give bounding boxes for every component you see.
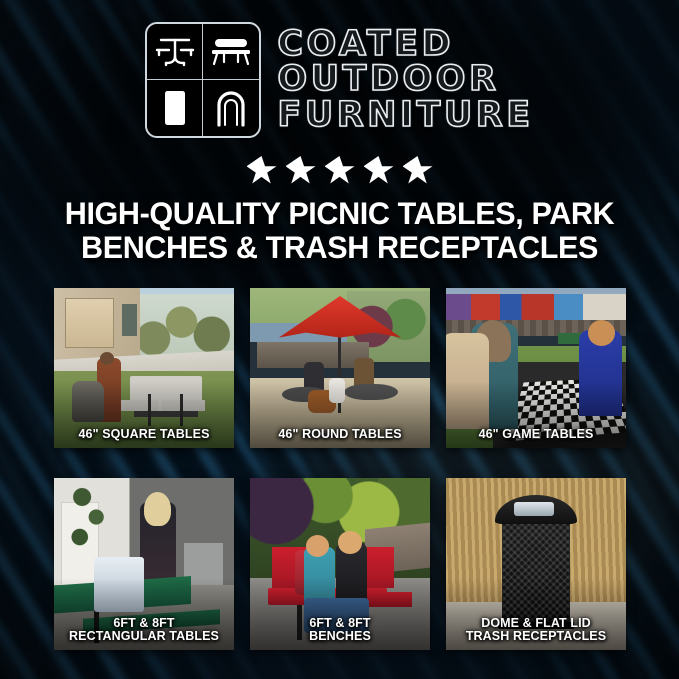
product-caption-line-1: 46" ROUND TABLES [278,427,401,441]
brand-name-line-1: COATED [277,28,454,62]
product-caption: DOME & FLAT LID TRASH RECEPTACLES [446,617,626,644]
product-caption-line-1: 6FT & 8FT [113,616,174,630]
bike-rack-icon [203,80,259,136]
picnic-table-icon [147,24,203,80]
product-tile-square-tables[interactable]: 46" SQUARE TABLES [54,288,234,448]
product-caption-line-2: TRASH RECEPTACLES [449,630,623,643]
star-icon [403,156,433,185]
product-tile-game-tables[interactable]: 46" GAME TABLES [446,288,626,448]
headline-line-2: BENCHES & TRASH RECEPTACLES [32,230,648,264]
headline: HIGH-QUALITY PICNIC TABLES, PARK BENCHES… [22,196,657,264]
product-caption-line-1: 46" GAME TABLES [479,427,594,441]
brand-name: COATED OUTDOOR FURNITURE [277,27,533,134]
product-caption-line-2: RECTANGULAR TABLES [57,630,231,643]
product-caption: 46" SQUARE TABLES [54,428,234,441]
star-icon [325,156,355,185]
product-grid: 46" SQUARE TABLES [54,288,626,650]
brand-logo [145,22,261,138]
promo-poster: COATED OUTDOOR FURNITURE HIGH-QUALITY PI… [0,0,679,679]
product-tile-benches[interactable]: 6FT & 8FT BENCHES [250,478,430,650]
product-tile-trash-receptacles[interactable]: DOME & FLAT LID TRASH RECEPTACLES [446,478,626,650]
product-caption-line-1: DOME & FLAT LID [481,616,591,630]
bench-icon [203,24,259,80]
product-caption-line-1: 46" SQUARE TABLES [78,427,209,441]
brand-header: COATED OUTDOOR FURNITURE [0,22,679,138]
trash-receptacle-icon [147,80,203,136]
star-icon [364,156,394,185]
product-caption: 6FT & 8FT RECTANGULAR TABLES [54,617,234,644]
product-tile-round-tables[interactable]: 46" ROUND TABLES [250,288,430,448]
brand-name-line-2: OUTDOOR [277,63,499,97]
product-caption: 46" GAME TABLES [446,428,626,441]
product-caption: 46" ROUND TABLES [250,428,430,441]
brand-name-line-3: FURNITURE [277,99,533,133]
product-caption: 6FT & 8FT BENCHES [250,617,430,644]
product-caption-line-2: BENCHES [253,630,427,643]
star-icon [286,156,316,185]
product-tile-rectangular-tables[interactable]: 6FT & 8FT RECTANGULAR TABLES [54,478,234,650]
headline-line-1: HIGH-QUALITY PICNIC TABLES, PARK [32,196,648,230]
star-icon [247,156,277,185]
star-rating [0,156,679,185]
product-caption-line-1: 6FT & 8FT [309,616,370,630]
